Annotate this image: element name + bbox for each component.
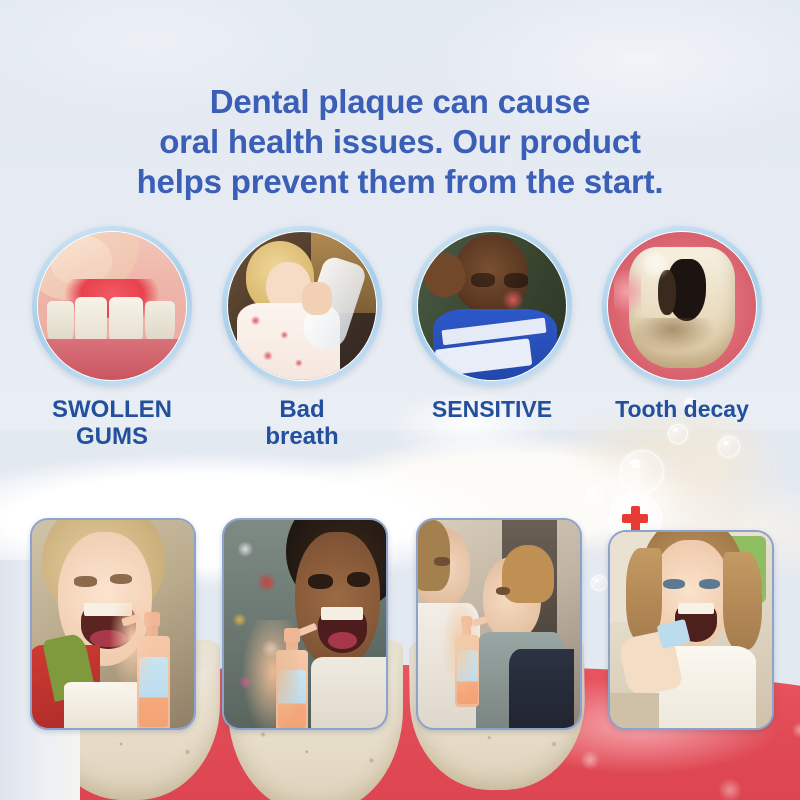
symptom-circle-frame bbox=[222, 226, 382, 386]
photo-content bbox=[224, 520, 386, 728]
symptom-label-line-2: breath bbox=[222, 423, 382, 450]
swollen-gums-photo bbox=[37, 231, 187, 381]
bad-breath-photo bbox=[227, 231, 377, 381]
symptom-item-swollen-gums[interactable]: SWOLLEN GUMS bbox=[32, 226, 192, 450]
headline-line-1: Dental plaque can cause bbox=[0, 82, 800, 122]
symptom-list: SWOLLEN GUMS bbox=[0, 226, 800, 446]
headline-line-2: oral health issues. Our product bbox=[0, 122, 800, 162]
symptom-label-line-2: GUMS bbox=[32, 423, 192, 450]
symptom-label-line-1: SENSITIVE bbox=[412, 396, 572, 423]
curly-hair-child-spray-photo[interactable] bbox=[222, 518, 388, 730]
tooth-decay-photo bbox=[607, 231, 757, 381]
symptom-circle-frame bbox=[32, 226, 192, 386]
symptom-label: Tooth decay bbox=[602, 396, 762, 423]
symptom-label: Bad breath bbox=[222, 396, 382, 450]
symptom-label-line-1: Bad bbox=[222, 396, 382, 423]
sensitive-teeth-photo bbox=[417, 231, 567, 381]
photo-content bbox=[32, 520, 194, 728]
content-layer: Dental plaque can cause oral health issu… bbox=[0, 0, 800, 800]
girl-using-spray-photo[interactable] bbox=[30, 518, 196, 730]
usage-photo-gallery bbox=[0, 518, 800, 730]
symptom-circle-frame bbox=[602, 226, 762, 386]
girl-brushing-photo[interactable] bbox=[608, 530, 774, 730]
symptom-label: SWOLLEN GUMS bbox=[32, 396, 192, 450]
photo-content bbox=[610, 532, 772, 728]
symptom-label-line-1: SWOLLEN bbox=[32, 396, 192, 423]
symptom-item-sensitive[interactable]: SENSITIVE bbox=[412, 226, 572, 423]
symptom-label: SENSITIVE bbox=[412, 396, 572, 423]
photo-content bbox=[418, 520, 580, 728]
symptom-item-bad-breath[interactable]: Bad breath bbox=[222, 226, 382, 450]
mother-and-baby-spray-photo[interactable] bbox=[416, 518, 582, 730]
page-title: Dental plaque can cause oral health issu… bbox=[0, 82, 800, 202]
symptom-item-tooth-decay[interactable]: Tooth decay bbox=[602, 226, 762, 423]
headline-line-3: helps prevent them from the start. bbox=[0, 162, 800, 202]
symptom-label-line-1: Tooth decay bbox=[602, 396, 762, 423]
symptom-circle-frame bbox=[412, 226, 572, 386]
